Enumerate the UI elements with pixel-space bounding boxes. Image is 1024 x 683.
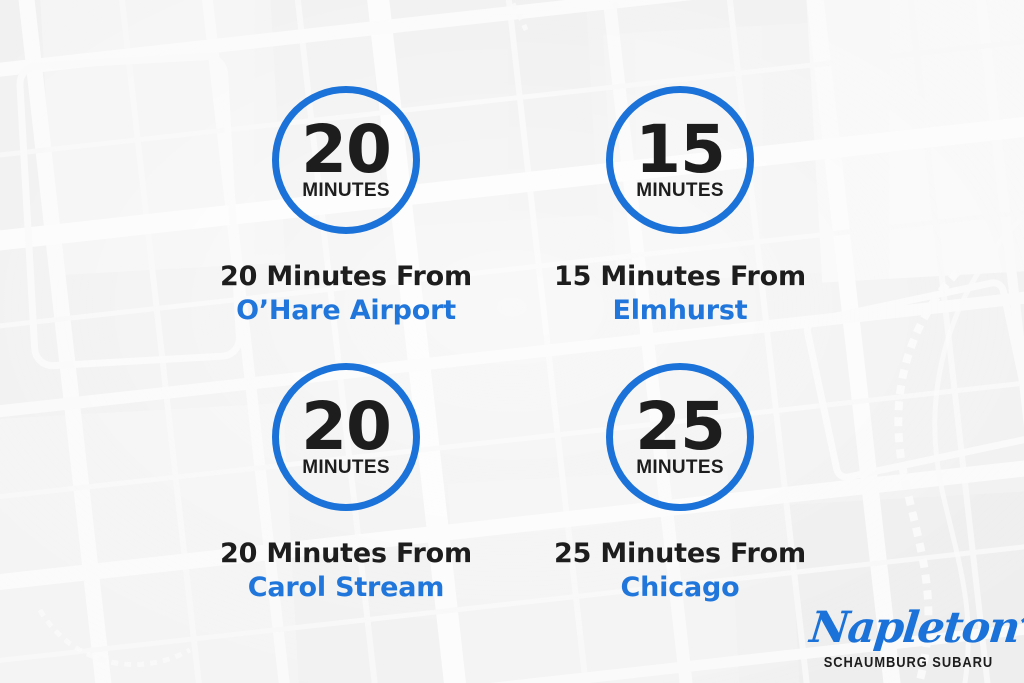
- badge-number: 20: [301, 399, 391, 456]
- drive-times-graphic: 20 MINUTES 20 Minutes From O’Hare Airpor…: [0, 0, 1024, 683]
- card-caption: 25 Minutes From Chicago: [470, 537, 890, 605]
- caption-location: Chicago: [470, 571, 890, 605]
- dealer-logo-subtitle: SCHAUMBURG SUBARU: [824, 655, 993, 670]
- badge-number: 15: [635, 122, 725, 179]
- card-caption: 15 Minutes From Elmhurst: [470, 260, 890, 328]
- badge-content: 15 MINUTES: [606, 86, 754, 234]
- minutes-badge: 15 MINUTES: [606, 86, 754, 234]
- badge-content: 20 MINUTES: [272, 363, 420, 511]
- minutes-badge: 25 MINUTES: [606, 363, 754, 511]
- badge-unit-label: MINUTES: [636, 181, 724, 200]
- minutes-badge: 20 MINUTES: [272, 363, 420, 511]
- minutes-badge: 20 MINUTES: [272, 86, 420, 234]
- badge-unit-label: MINUTES: [636, 458, 724, 477]
- caption-location: Elmhurst: [470, 294, 890, 328]
- badge-content: 25 MINUTES: [606, 363, 754, 511]
- drive-time-card-grid: 20 MINUTES 20 Minutes From O’Hare Airpor…: [0, 0, 1024, 683]
- dealer-logo[interactable]: Napleton’s SCHAUMBURG SUBARU: [810, 607, 1006, 670]
- drive-time-card: 15 MINUTES 15 Minutes From Elmhurst: [470, 86, 890, 328]
- drive-time-card: 25 MINUTES 25 Minutes From Chicago: [470, 363, 890, 605]
- badge-content: 20 MINUTES: [272, 86, 420, 234]
- caption-primary: 25 Minutes From: [470, 537, 890, 571]
- caption-primary: 15 Minutes From: [470, 260, 890, 294]
- badge-number: 20: [301, 122, 391, 179]
- dealer-logo-wordmark: Napleton’s: [808, 607, 1009, 650]
- badge-number: 25: [635, 399, 725, 456]
- badge-unit-label: MINUTES: [302, 458, 390, 477]
- badge-unit-label: MINUTES: [302, 181, 390, 200]
